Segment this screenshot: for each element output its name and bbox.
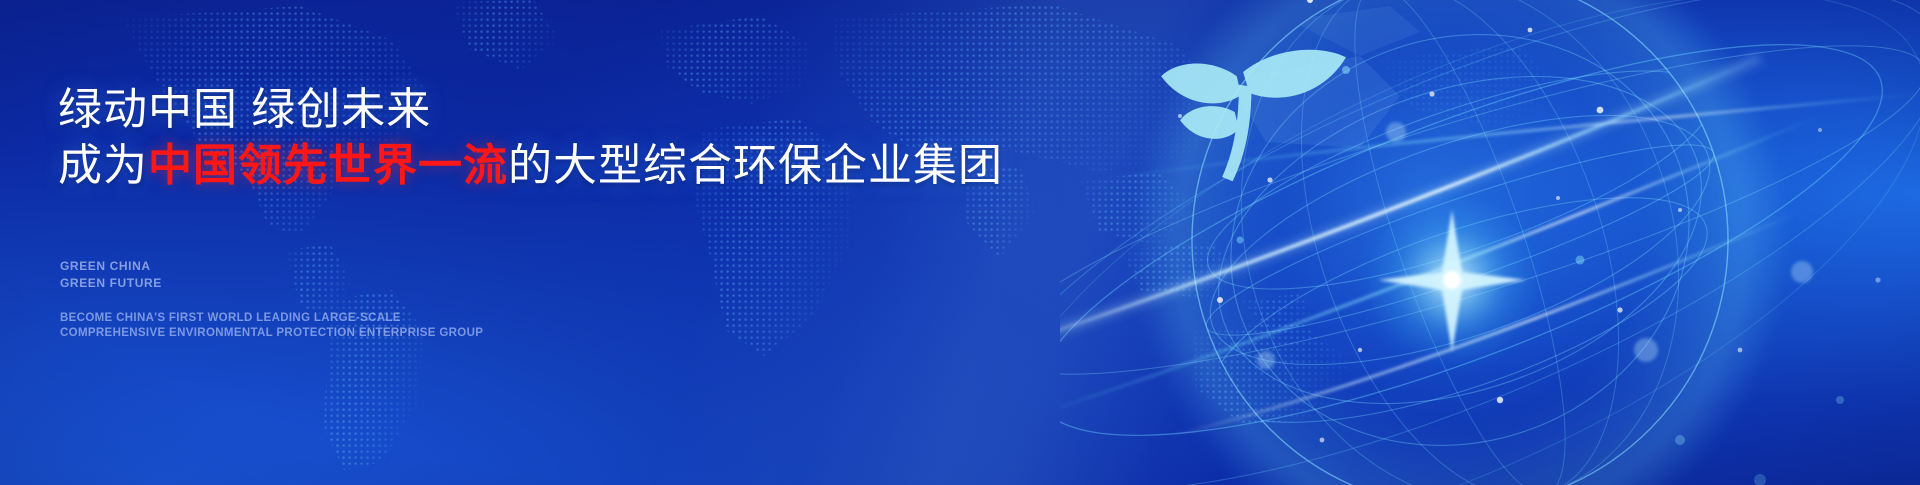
copy-block: 绿动中国 绿创未来 成为中国领先世界一流的大型综合环保企业集团 GREEN CH… [58, 0, 1078, 485]
tagline: GREEN CHINA GREEN FUTURE [60, 258, 162, 292]
tagline-line-2: GREEN FUTURE [60, 275, 162, 292]
tagline-line-1: GREEN CHINA [60, 258, 162, 275]
headline-line-1: 绿动中国 绿创未来 [58, 85, 431, 134]
headline-highlight: 中国领先世界一流 [148, 141, 508, 190]
sprout-icon [1161, 50, 1346, 181]
page-title: 绿动中国 绿创未来 成为中国领先世界一流的大型综合环保企业集团 [58, 82, 1003, 195]
starburst-icon [1360, 188, 1544, 372]
headline-prefix: 成为 [58, 141, 148, 190]
headline-line-2: 成为中国领先世界一流的大型综合环保企业集团 [58, 138, 1003, 194]
globe-graphic [1060, 0, 1920, 485]
subline: BECOME CHINA'S FIRST WORLD LEADING LARGE… [60, 311, 483, 341]
headline-suffix: 的大型综合环保企业集团 [508, 141, 1003, 190]
subline-line-2: COMPREHENSIVE ENVIRONMENTAL PROTECTION E… [60, 326, 483, 341]
subline-line-1: BECOME CHINA'S FIRST WORLD LEADING LARGE… [60, 311, 483, 326]
hero-banner: 绿动中国 绿创未来 成为中国领先世界一流的大型综合环保企业集团 GREEN CH… [0, 0, 1920, 485]
